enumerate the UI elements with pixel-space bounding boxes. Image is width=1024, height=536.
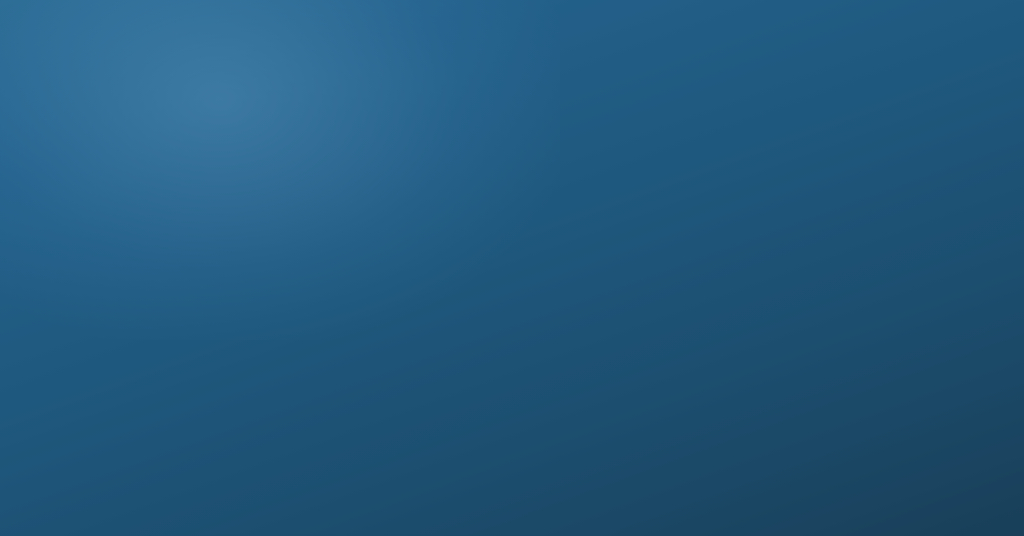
background-glow-topleft <box>0 0 560 340</box>
news-graphic-canvas: สมาคมสถาบันการเงินของรัฐ : The Governmen… <box>0 0 1024 536</box>
